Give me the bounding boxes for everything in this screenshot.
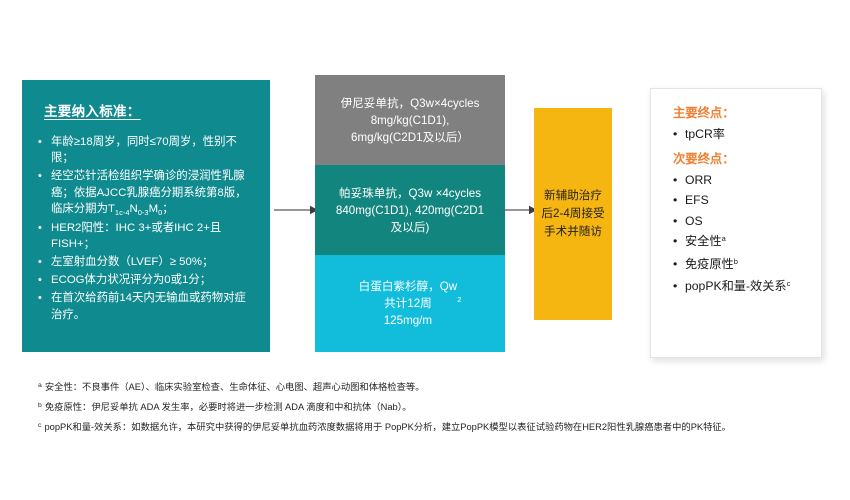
surgery-followup-text: 新辅助治疗后2-4周接受手术并随访 xyxy=(539,187,607,241)
treatment-segment-pertuzumab: 帕妥珠单抗，Q3w ×4cycles840mg(C1D1), 420mg(C2D… xyxy=(315,165,505,255)
footnotes-block: a 安全性：不良事件（AE）、临床实验室检查、生命体征、心电图、超声心动图和体格… xyxy=(38,378,818,438)
criteria-item: ECOG体力状况评分为0或1分； xyxy=(36,272,256,288)
treatment-segment-inetetamab: 伊尼妥单抗，Q3w×4cycles8mg/kg(C1D1),6mg/kg(C2D… xyxy=(315,75,505,165)
criteria-item: HER2阳性：IHC 3+或者IHC 2+且FISH+； xyxy=(36,220,256,253)
secondary-endpoint-item: 安全性a xyxy=(673,231,811,254)
secondary-endpoint-heading: 次要终点： xyxy=(673,149,811,169)
primary-endpoint-list: tpCR率 xyxy=(673,124,811,145)
inclusion-criteria-box: 主要纳入标准： 年龄≥18周岁，同时≤70周岁，性别不限； 经空芯针活检组织学确… xyxy=(22,80,270,352)
footnote-c: c popPK和量-效关系：如数据允许，本研究中获得的伊尼妥单抗血药浓度数据将用… xyxy=(38,418,818,438)
secondary-endpoint-item: 免疫原性b xyxy=(673,254,811,277)
criteria-item: 经空芯针活检组织学确诊的浸润性乳腺癌；依据AJCC乳腺癌分期系统第8版，临床分期… xyxy=(36,168,256,218)
criteria-item: 左室射血分数（LVEF）≥ 50%； xyxy=(36,254,256,270)
primary-endpoint-item: tpCR率 xyxy=(673,124,811,145)
footnote-b: b 免疫原性：伊尼妥单抗 ADA 发生率，必要时将进一步检测 ADA 滴度和中和… xyxy=(38,398,818,418)
secondary-endpoint-item: ORR xyxy=(673,170,811,191)
secondary-endpoint-list: ORR EFS OS 安全性a 免疫原性b popPK和量-效关系c xyxy=(673,170,811,299)
treatment-segment-nab-paclitaxel: 白蛋白紫杉醇，Qw共计12周125mg/m2 xyxy=(315,255,505,352)
inclusion-criteria-list: 年龄≥18周岁，同时≤70周岁，性别不限； 经空芯针活检组织学确诊的浸润性乳腺癌… xyxy=(36,134,256,323)
primary-endpoint-heading: 主要终点： xyxy=(673,103,811,123)
criteria-item: 年龄≥18周岁，同时≤70周岁，性别不限； xyxy=(36,134,256,167)
endpoints-card: 主要终点： tpCR率 次要终点： ORR EFS OS 安全性a 免疫原性b … xyxy=(650,88,822,358)
arrow-treatment-to-surgery xyxy=(503,205,537,215)
surgery-followup-box: 新辅助治疗后2-4周接受手术并随访 xyxy=(534,108,612,320)
secondary-endpoint-item: OS xyxy=(673,211,811,232)
inclusion-criteria-title: 主要纳入标准： xyxy=(44,100,256,120)
slide-canvas: 主要纳入标准： 年龄≥18周岁，同时≤70周岁，性别不限； 经空芯针活检组织学确… xyxy=(0,0,850,500)
criteria-item: 在首次给药前14天内无输血或药物对症治疗。 xyxy=(36,290,256,323)
secondary-endpoint-item: EFS xyxy=(673,190,811,211)
footnote-a: a 安全性：不良事件（AE）、临床实验室检查、生命体征、心电图、超声心动图和体格… xyxy=(38,378,818,398)
arrow-inclusion-to-treatment xyxy=(274,205,318,215)
treatment-regimen-stack: 伊尼妥单抗，Q3w×4cycles8mg/kg(C1D1),6mg/kg(C2D… xyxy=(315,75,505,352)
secondary-endpoint-item: popPK和量-效关系c xyxy=(673,276,811,299)
